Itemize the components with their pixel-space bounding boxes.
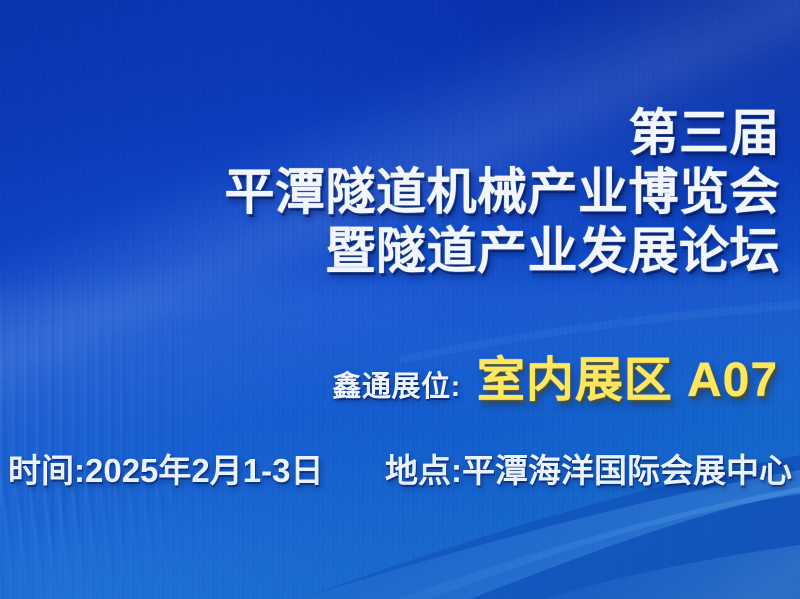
event-date: 时间:2025年2月1-3日 xyxy=(8,444,323,492)
title-line-forum: 暨隧道产业发展论坛 xyxy=(225,226,781,276)
poster-content: 第三届 平潭隧道机械产业博览会 暨隧道产业发展论坛 鑫通展位: 室内展区 A07… xyxy=(0,0,800,599)
title-line-edition: 第三届 xyxy=(225,108,781,158)
booth-info-row: 鑫通展位: 室内展区 A07 xyxy=(0,340,778,410)
event-title-block: 第三届 平潭隧道机械产业博览会 暨隧道产业发展论坛 xyxy=(225,108,781,276)
event-details-row: 时间:2025年2月1-3日 地点:平潭海洋国际会展中心 xyxy=(8,444,792,492)
title-line-expo: 平潭隧道机械产业博览会 xyxy=(225,167,781,217)
booth-number: 室内展区 A07 xyxy=(477,340,778,410)
exhibition-banner-poster: 第三届 平潭隧道机械产业博览会 暨隧道产业发展论坛 鑫通展位: 室内展区 A07… xyxy=(0,0,800,599)
booth-label: 鑫通展位: xyxy=(332,363,461,405)
event-venue: 地点:平潭海洋国际会展中心 xyxy=(385,444,792,492)
